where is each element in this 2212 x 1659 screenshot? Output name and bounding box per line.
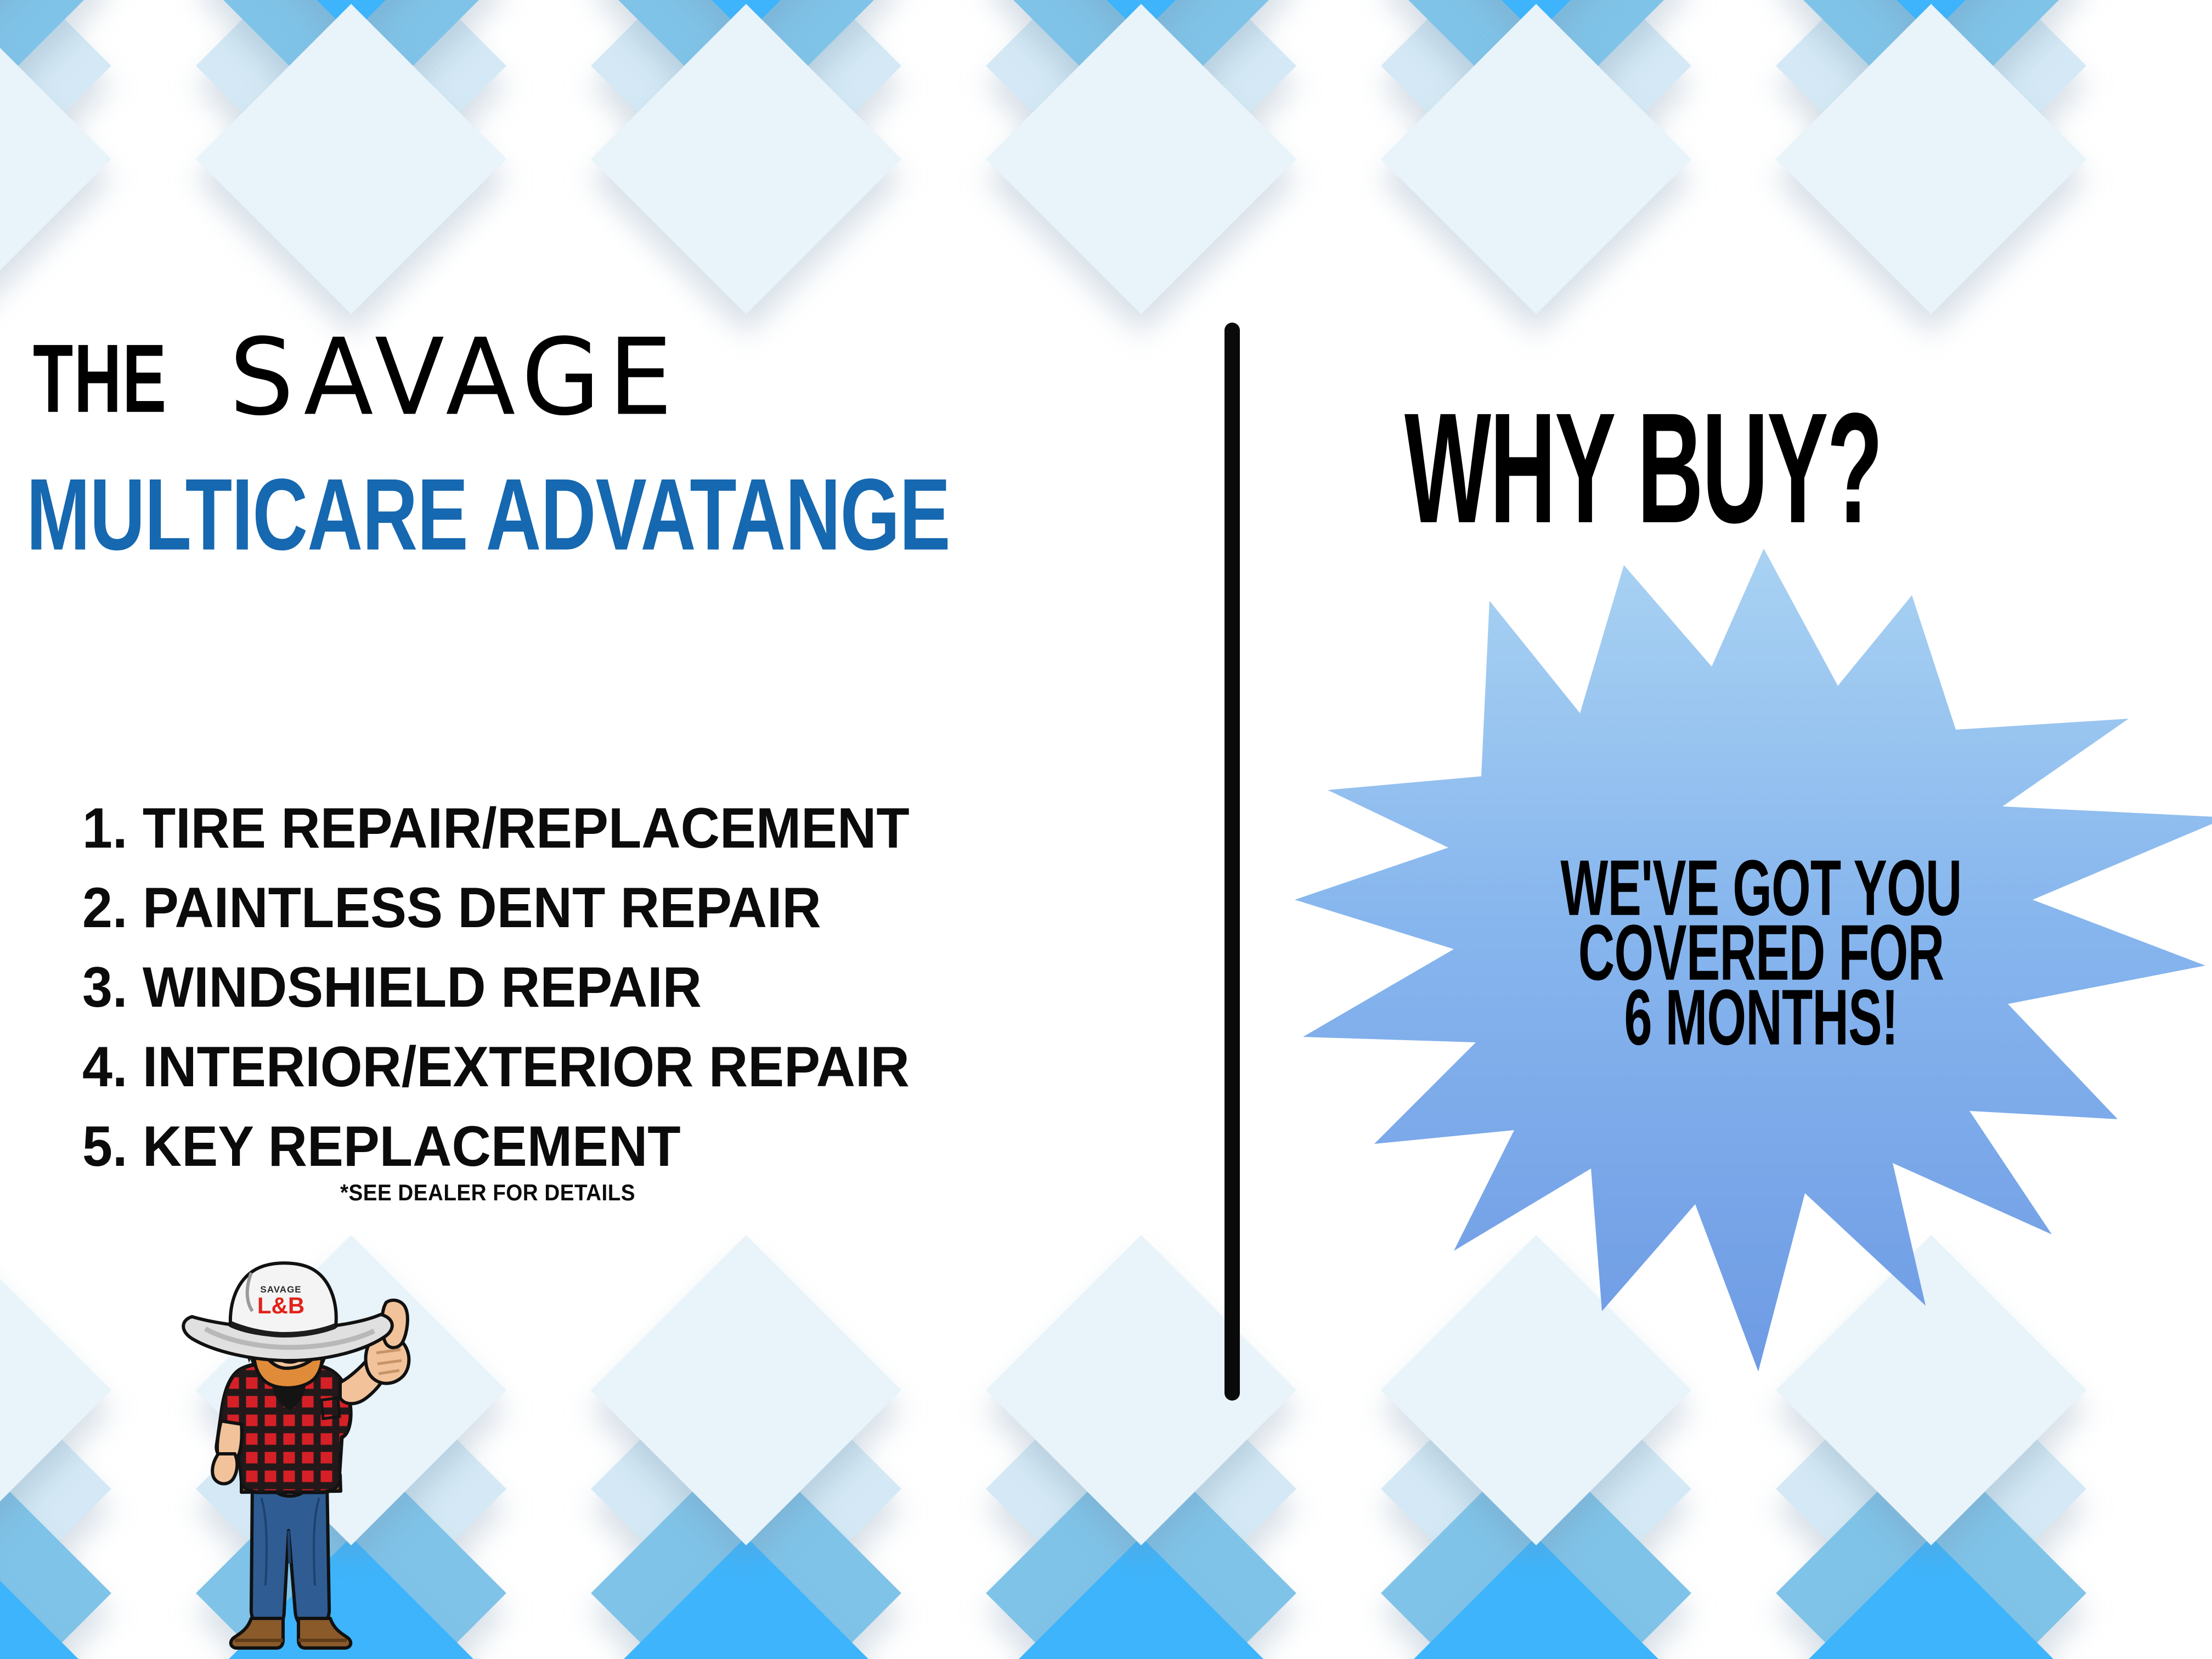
left-panel: THE SAVAGE MULTICARE ADVATANGE 1. TIRE R… [0, 0, 1224, 1659]
list-item: 2. PAINTLESS DENT REPAIR [82, 868, 910, 948]
subheadline: MULTICARE ADVATANGE [26, 456, 950, 574]
mascot-boots [231, 1618, 351, 1648]
mascot-cowboy: SAVAGE L&B [159, 1256, 422, 1659]
mascot-cowboy-hat: SAVAGE L&B [183, 1263, 392, 1361]
promo-flyer: THE SAVAGE MULTICARE ADVATANGE 1. TIRE R… [0, 0, 2212, 1659]
hat-logo: SAVAGE L&B [257, 1284, 304, 1318]
headline-prefix: THE [33, 323, 167, 435]
starburst-badge: WE'VE GOT YOU COVERED FOR 6 MONTHS! [1295, 549, 2212, 1372]
headline-brand: SAVAGE [229, 315, 680, 439]
svg-text:L&B: L&B [257, 1293, 304, 1318]
list-item: 5. KEY REPLACEMENT [82, 1107, 910, 1187]
mascot-jeans [251, 1480, 329, 1626]
list-item: 4. INTERIOR/EXTERIOR REPAIR [82, 1028, 910, 1107]
vertical-divider [1224, 323, 1240, 1401]
starburst-line-3: 6 MONTHS! [1397, 978, 2125, 1057]
disclaimer-text: *SEE DEALER FOR DETAILS [340, 1180, 635, 1206]
service-list: 1. TIRE REPAIR/REPLACEMENT 2. PAINTLESS … [82, 789, 953, 1187]
mascot-left-arm [212, 1421, 242, 1484]
starburst-text: WE'VE GOT YOU COVERED FOR 6 MONTHS! [1295, 856, 2212, 1050]
headline: THE SAVAGE [33, 323, 672, 439]
list-item: 1. TIRE REPAIR/REPLACEMENT [82, 789, 910, 868]
why-buy-heading: WHY BUY? [1404, 379, 1882, 559]
list-item: 3. WINDSHIELD REPAIR [82, 948, 910, 1028]
right-panel: WHY BUY? WE'VE GOT YOU COVERED FOR 6 MON… [1240, 0, 2212, 1659]
